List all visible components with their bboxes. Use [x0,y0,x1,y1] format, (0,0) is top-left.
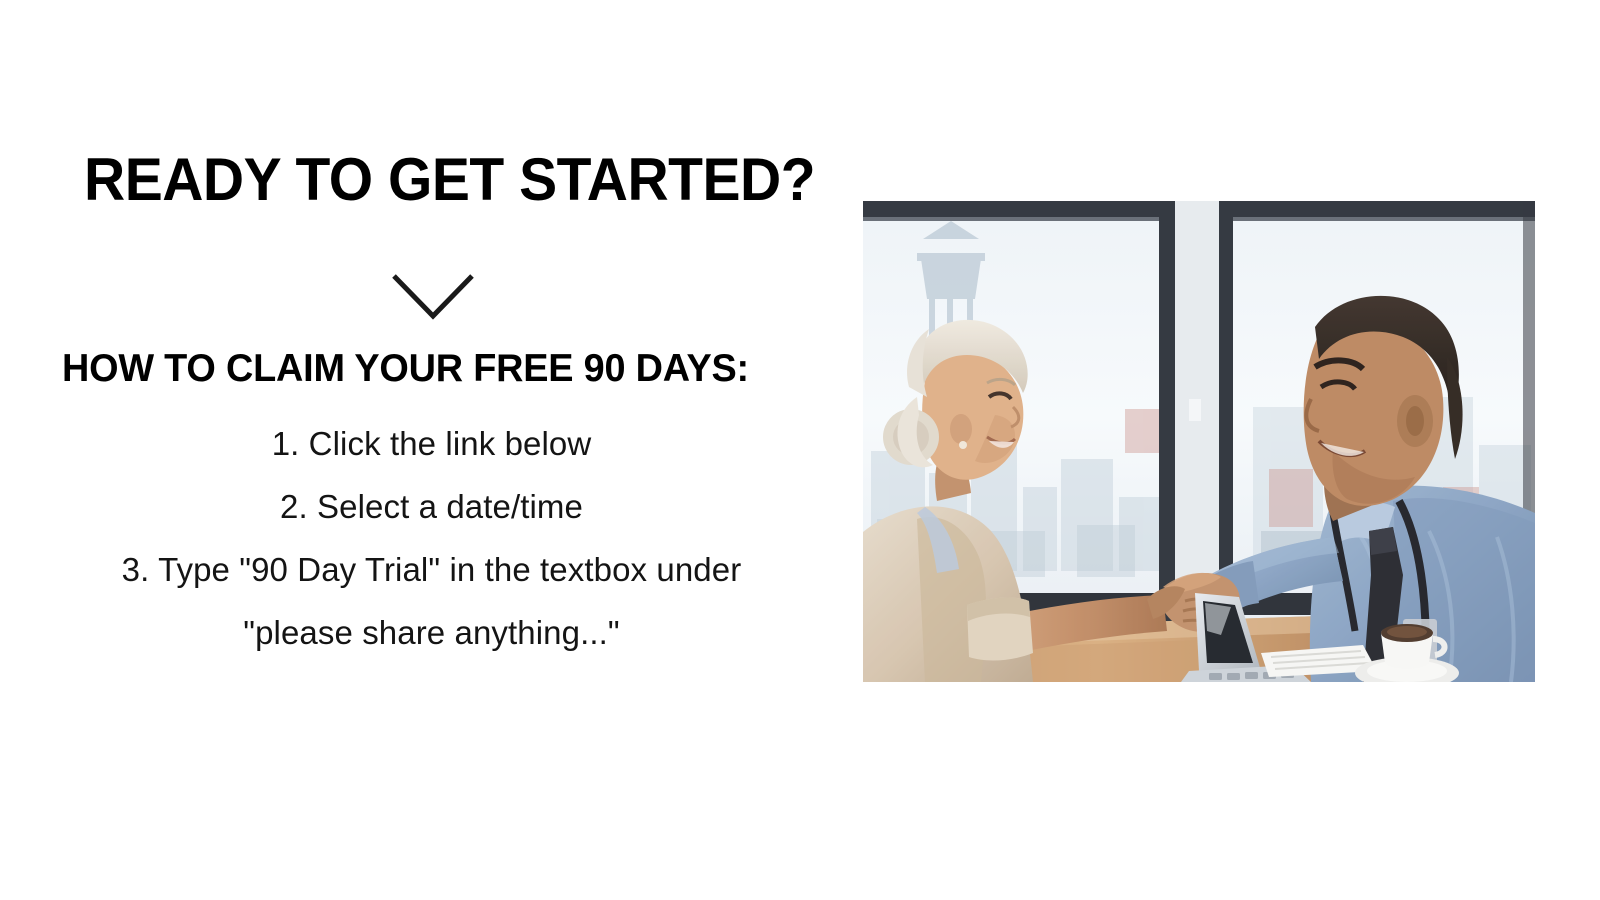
list-item: "please share anything..." [0,601,863,664]
promo-slide: READY TO GET STARTED? HOW TO CLAIM YOUR … [0,0,1600,900]
list-item: 3. Type "90 Day Trial" in the textbox un… [0,538,863,601]
chevron-down-icon [390,270,476,326]
text-column: READY TO GET STARTED? HOW TO CLAIM YOUR … [0,0,863,900]
list-item: 1. Click the link below [0,412,863,475]
steps-list: 1. Click the link below 2. Select a date… [0,412,863,664]
list-item: 2. Select a date/time [0,475,863,538]
handshake-photo [863,201,1535,682]
page-title: READY TO GET STARTED? [84,148,815,211]
section-subtitle: HOW TO CLAIM YOUR FREE 90 DAYS: [62,348,749,391]
